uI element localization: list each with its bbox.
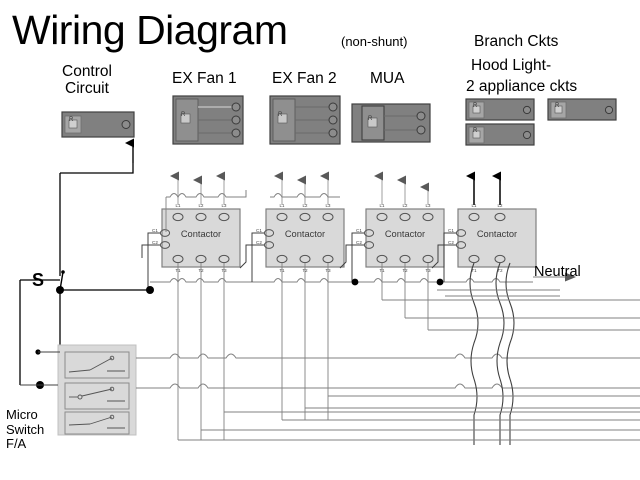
contactor-ex-fan-2-label: Contactor <box>274 229 336 239</box>
contactor-mua-label: Contactor <box>374 229 436 239</box>
page-title: Wiring Diagram <box>12 8 288 54</box>
control-circuit-heading-line1: Control <box>62 63 112 80</box>
control-circuit-breaker-tab-label: R <box>69 117 73 124</box>
ex-fan-2-breaker[interactable] <box>270 96 340 144</box>
ex-fan-1-breaker-tab-label: R <box>181 112 185 119</box>
load-arrows-branch <box>474 176 500 205</box>
appliance-ckts-heading: 2 appliance ckts <box>466 78 577 95</box>
micro-switch-label: Micro Switch F/A <box>6 408 44 452</box>
svg-text:C1: C1 <box>256 228 262 233</box>
ex-fan-1-heading: EX Fan 1 <box>172 70 237 87</box>
hood-light-heading: Hood Light- <box>471 57 551 74</box>
appliance-ckt-1-breaker-tab-label: R <box>555 103 559 110</box>
return-lines <box>178 300 640 440</box>
svg-text:C1: C1 <box>448 228 454 233</box>
contactor-ex-fan-1-label: Contactor <box>170 229 232 239</box>
micro-switch-contact-3[interactable] <box>65 412 129 434</box>
micro-switch-fa[interactable] <box>58 345 136 435</box>
svg-text:C2: C2 <box>256 240 262 245</box>
svg-text:L3: L3 <box>326 203 331 208</box>
svg-text:L2: L2 <box>498 203 503 208</box>
signal-lines <box>136 354 640 388</box>
contactor-drop-wires <box>178 263 428 440</box>
micro-switch-contact-2[interactable] <box>65 383 129 409</box>
svg-text:C2: C2 <box>448 240 454 245</box>
neutral-label: Neutral <box>534 264 581 280</box>
control-circuit-heading: Control Circuit <box>62 63 112 98</box>
load-arrows-ex-fan-2 <box>282 176 328 205</box>
micro-switch-feed-wires <box>20 352 60 385</box>
svg-text:L1: L1 <box>472 203 477 208</box>
svg-text:L2: L2 <box>303 203 308 208</box>
svg-text:L2: L2 <box>199 203 204 208</box>
svg-text:C2: C2 <box>152 240 158 245</box>
svg-text:L3: L3 <box>426 203 431 208</box>
mua-breaker[interactable] <box>352 104 430 142</box>
svg-text:L1: L1 <box>380 203 385 208</box>
wiring-diagram-canvas: L1 L2 L3 T1 T2 T3 C1 C2 L1 L2 L3 T1 T2 T… <box>0 0 640 480</box>
micro-switch-label-line1: Micro <box>6 408 44 423</box>
mua-heading: MUA <box>370 70 404 87</box>
ex-fan-2-heading: EX Fan 2 <box>272 70 337 87</box>
page-title-subscript: (non-shunt) <box>341 35 407 50</box>
svg-text:L2: L2 <box>403 203 408 208</box>
switch-s-label: S <box>32 270 44 290</box>
micro-switch-label-line2: Switch <box>6 423 44 438</box>
appliance-ckt-2-breaker-tab-label: R <box>473 128 477 135</box>
svg-text:C1: C1 <box>152 228 158 233</box>
bus-lines <box>150 279 533 283</box>
svg-text:L1: L1 <box>280 203 285 208</box>
micro-switch-contact-1[interactable] <box>65 352 129 378</box>
mua-breaker-tab-label: R <box>368 116 372 123</box>
svg-text:L1: L1 <box>176 203 181 208</box>
load-arrows-ex-fan-1 <box>178 176 224 205</box>
micro-switch-label-line3: F/A <box>6 437 44 452</box>
ex-fan-2-breaker-tab-label: R <box>278 112 282 119</box>
branch-ckts-heading: Branch Ckts <box>474 33 558 50</box>
contactor-branch-ckts-label: Contactor <box>466 229 528 239</box>
hood-light-breaker-tab-label: R <box>473 103 477 110</box>
svg-text:L3: L3 <box>222 203 227 208</box>
ex-fan-1-breaker[interactable] <box>173 96 243 144</box>
svg-text:C1: C1 <box>356 228 362 233</box>
control-circuit-breaker[interactable] <box>62 112 134 137</box>
load-arrows-mua <box>382 176 428 205</box>
control-circuit-heading-line2: Circuit <box>62 80 112 97</box>
right-bus-lines <box>437 290 560 296</box>
svg-text:C2: C2 <box>356 240 362 245</box>
